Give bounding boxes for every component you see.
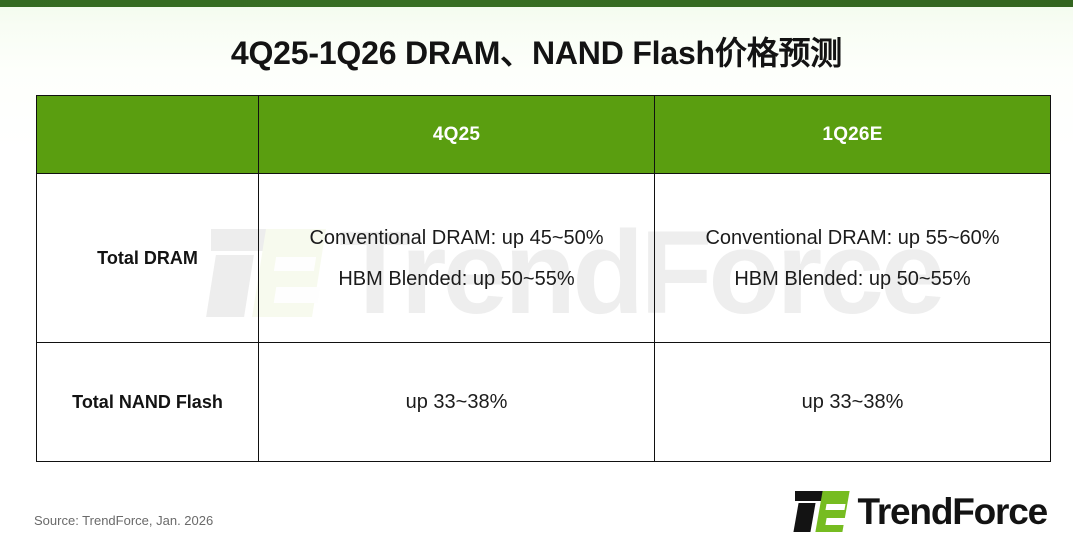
cell-line: up 33~38% [259,391,654,414]
cell-total-dram-4q25: Conventional DRAM: up 45~50% HBM Blended… [259,174,655,343]
trendforce-logo-icon [793,487,849,535]
cell-line: Conventional DRAM: up 55~60% [655,228,1050,248]
trendforce-logo: TrendForce [793,487,1048,535]
table-body: Total DRAM Conventional DRAM: up 45~50% … [37,174,1051,462]
cell-line: HBM Blended: up 50~55% [655,269,1050,289]
row-label-total-dram: Total DRAM [37,174,259,343]
row-label-total-nand-flash: Total NAND Flash [37,343,259,462]
cell-line: up 33~38% [655,391,1050,414]
cell-total-nand-4q25: up 33~38% [259,343,655,462]
table-header: 4Q25 1Q26E [37,96,1051,174]
cell-line: Conventional DRAM: up 45~50% [259,228,654,248]
cell-total-nand-1q26e: up 33~38% [655,343,1051,462]
table-header-4q25: 4Q25 [259,96,655,174]
top-accent-bar [0,0,1073,7]
trendforce-logo-text: TrendForce [858,493,1048,530]
table-row: Total NAND Flash up 33~38% up 33~38% [37,343,1051,462]
price-forecast-table: 4Q25 1Q26E Total DRAM Conventional DRAM:… [36,95,1051,462]
source-note: Source: TrendForce, Jan. 2026 [34,513,213,528]
slide-canvas: 4Q25-1Q26 DRAM、NAND Flash价格预测 TrendForce… [0,0,1073,552]
table-header-1q26e: 1Q26E [655,96,1051,174]
table-header-row: 4Q25 1Q26E [37,96,1051,174]
page-title: 4Q25-1Q26 DRAM、NAND Flash价格预测 [0,28,1073,74]
table-header-corner [37,96,259,174]
table-row: Total DRAM Conventional DRAM: up 45~50% … [37,174,1051,343]
cell-line: HBM Blended: up 50~55% [259,269,654,289]
cell-total-dram-1q26e: Conventional DRAM: up 55~60% HBM Blended… [655,174,1051,343]
